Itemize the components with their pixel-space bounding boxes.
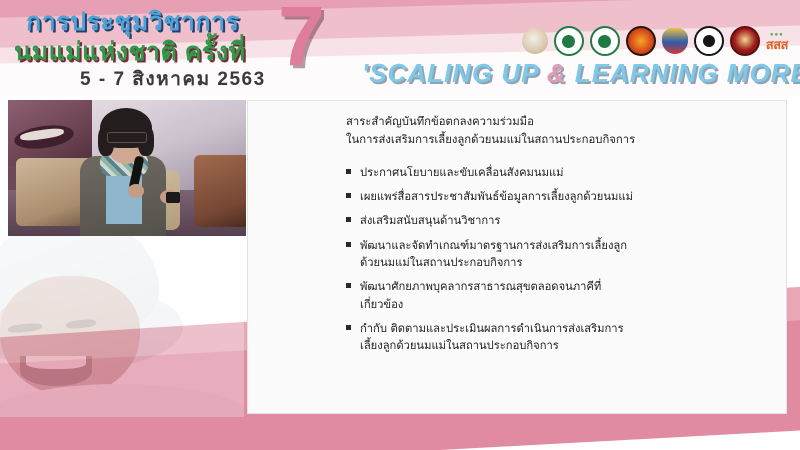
bullet-text: เผยแพร่สื่อสารประชาสัมพันธ์ข้อมูลการเลี้… [360,190,633,203]
glasses-icon [107,132,147,143]
presentation-slide: 7 การประชุมวิชาการ นมแม่แห่งชาติ ครั้งที… [0,0,800,450]
content-panel: สาระสำคัญบันทึกข้อตกลงความร่วมมือ ในการส… [247,100,787,414]
content-bullet-list: ประกาศนโยบายและขับเคลื่อนสังคมนมแม่ เผยแ… [346,164,770,355]
bullet-text-continued: ด้วยนมแม่ในสถานประกอบกิจการ [360,254,770,271]
list-item: พัฒนาศักยภาพบุคลากรสาธารณสุขตลอดจนภาคีที… [346,278,770,313]
logo-green-circle-2-icon [590,26,620,56]
list-item: เผยแพร่สื่อสารประชาสัมพันธ์ข้อมูลการเลี้… [346,188,770,205]
armchair-right [194,155,246,227]
bullet-text: กำกับ ติดตามและประเมินผลการดำเนินการส่งเ… [360,322,624,335]
slide-header: 7 การประชุมวิชาการ นมแม่แห่งชาติ ครั้งที… [0,0,800,96]
child-background-photo [0,232,244,417]
bullet-text-continued: เกี่ยวข้อง [360,296,770,313]
logo-red-orange-emblem-icon [626,26,656,56]
bullet-text-continued: เลี้ยงลูกด้วยนมแม่ในสถานประกอบกิจการ [360,337,770,354]
logo-thaihealth-sss-icon: ●●● สสส [766,32,788,51]
logo-gold-blue-crest-icon [662,28,688,54]
speaker-video-thumbnail[interactable] [8,100,246,236]
conference-date: 5 - 7 สิงหาคม 2563 [80,64,266,94]
list-item: ส่งเสริมสนับสนุนด้านวิชาการ [346,212,770,229]
content-heading-line1: สาระสำคัญบันทึกข้อตกลงความร่วมมือ [346,113,770,131]
tagline-pre: 'SCALING UP [362,58,547,88]
list-item: กำกับ ติดตามและประเมินผลการดำเนินการส่งเ… [346,320,770,355]
sponsor-logo-strip: ●●● สสส [522,26,788,56]
conference-tagline: 'SCALING UP & LEARNING MORE' [362,58,800,89]
content-heading: สาระสำคัญบันทึกข้อตกลงความร่วมมือ ในการส… [346,113,770,150]
presentation-clicker [166,192,180,203]
tagline-ampersand: & [547,58,567,88]
logo-black-circle-icon [694,26,724,56]
logo-green-circle-1-icon [554,26,584,56]
bullet-text: ประกาศนโยบายและขับเคลื่อนสังคมนมแม่ [360,166,564,179]
logo-dark-red-seal-icon [730,26,760,56]
bullet-text: พัฒนาศักยภาพบุคลากรสาธารณสุขตลอดจนภาคีที… [360,280,601,293]
list-item: พัฒนาและจัดทำเกณฑ์มาตรฐานการส่งเสริมการเ… [346,237,770,272]
thaihealth-label: สสส [766,37,788,52]
tagline-post: LEARNING MORE' [567,58,800,88]
list-item: ประกาศนโยบายและขับเคลื่อนสังคมนมแม่ [346,164,770,181]
logo-sepia-seal-icon [522,28,548,54]
edition-number: 7 [278,0,323,78]
bullet-text: ส่งเสริมสนับสนุนด้านวิชาการ [360,214,500,227]
bullet-text: พัฒนาและจัดทำเกณฑ์มาตรฐานการส่งเสริมการเ… [360,239,627,252]
content-heading-line2: ในการส่งเสริมการเลี้ยงลูกด้วยนมแม่ในสถาน… [346,131,770,149]
